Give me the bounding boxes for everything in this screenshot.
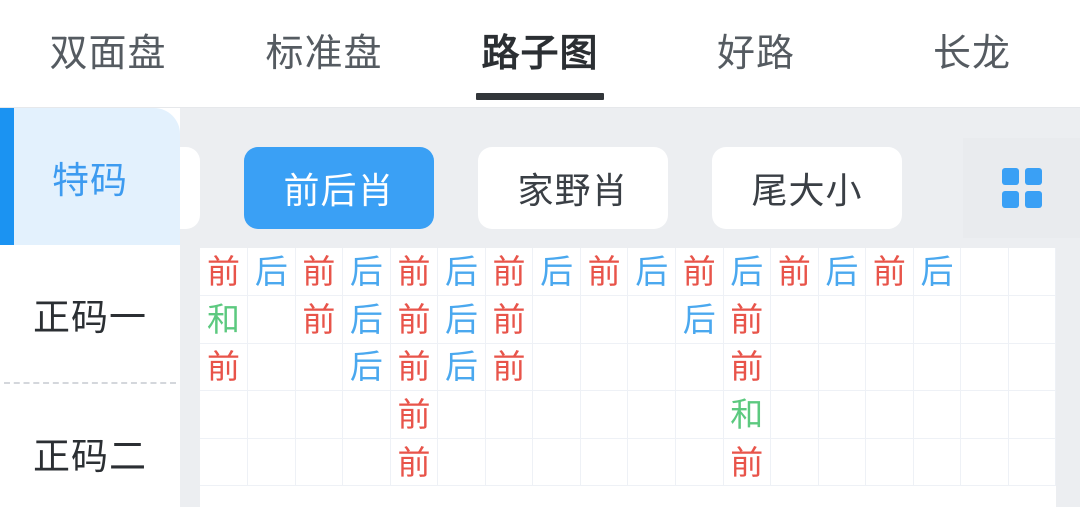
road-cell-前: 前 — [866, 248, 914, 296]
tab-label: 长龙 — [933, 35, 1011, 73]
road-cell-empty — [533, 438, 581, 486]
road-cell-empty — [818, 296, 866, 344]
road-cell-empty — [1008, 438, 1056, 486]
road-cell-empty — [675, 391, 723, 439]
road-cell-empty — [248, 343, 296, 391]
road-cell-empty — [818, 343, 866, 391]
road-cell-前: 前 — [580, 248, 628, 296]
road-cell-empty — [866, 391, 914, 439]
road-cell-前: 前 — [390, 296, 438, 344]
road-cell-后: 后 — [343, 296, 391, 344]
tab-changlong[interactable]: 长龙 — [864, 0, 1080, 108]
table-row: 前后前后前后前后前后前后前后前后 — [200, 248, 1056, 296]
road-cell-empty — [771, 438, 819, 486]
road-cell-empty — [343, 391, 391, 439]
road-cell-和: 和 — [723, 391, 771, 439]
road-cell-empty — [675, 438, 723, 486]
road-cell-empty — [1008, 343, 1056, 391]
road-cell-empty — [533, 296, 581, 344]
road-cell-empty — [818, 438, 866, 486]
road-cell-后: 后 — [913, 248, 961, 296]
road-cell-empty — [1008, 391, 1056, 439]
road-cell-前: 前 — [485, 296, 533, 344]
road-cell-empty — [961, 296, 1009, 344]
category-sidebar: 特码 正码一 正码二 — [0, 108, 180, 507]
road-cell-前: 前 — [390, 343, 438, 391]
road-cell-后: 后 — [438, 343, 486, 391]
road-cell-前: 前 — [485, 343, 533, 391]
road-cell-empty — [913, 391, 961, 439]
road-cell-和: 和 — [200, 296, 248, 344]
sidebar-item-tema[interactable]: 特码 — [0, 108, 180, 245]
top-tab-bar: 双面盘 标准盘 路子图 好路 长龙 — [0, 0, 1080, 108]
tab-biaozhunpan[interactable]: 标准盘 — [216, 0, 432, 108]
road-cell-empty — [961, 343, 1009, 391]
tab-label: 双面盘 — [49, 35, 166, 73]
road-cell-empty — [580, 296, 628, 344]
tab-shuangmianpan[interactable]: 双面盘 — [0, 0, 216, 108]
road-cell-empty — [533, 343, 581, 391]
road-cell-后: 后 — [723, 248, 771, 296]
grid-2x2-icon — [1002, 168, 1042, 208]
road-cell-前: 前 — [295, 296, 343, 344]
road-cell-前: 前 — [771, 248, 819, 296]
filter-chip-row: 前后肖 家野肖 尾大小 — [180, 138, 1080, 238]
road-cell-empty — [343, 438, 391, 486]
road-cell-前: 前 — [295, 248, 343, 296]
sidebar-item-zhengma-yi[interactable]: 正码一 — [0, 245, 180, 382]
road-cell-前: 前 — [723, 438, 771, 486]
road-cell-后: 后 — [343, 343, 391, 391]
filter-chip-jiayexiao[interactable]: 家野肖 — [478, 147, 668, 229]
road-cell-empty — [913, 296, 961, 344]
road-cell-empty — [628, 391, 676, 439]
road-cell-empty — [533, 391, 581, 439]
road-cell-empty — [675, 343, 723, 391]
table-row: 前后前后前前 — [200, 343, 1056, 391]
road-cell-empty — [913, 343, 961, 391]
road-cell-后: 后 — [343, 248, 391, 296]
table-row: 和前后前后前后前 — [200, 296, 1056, 344]
road-cell-empty — [961, 438, 1009, 486]
road-cell-empty — [248, 391, 296, 439]
tab-active-underline — [476, 93, 604, 100]
table-row: 前前 — [200, 438, 1056, 486]
tab-luzitu[interactable]: 路子图 — [432, 0, 648, 108]
road-cell-empty — [200, 391, 248, 439]
road-cell-empty — [866, 438, 914, 486]
road-cell-empty — [1008, 296, 1056, 344]
road-cell-前: 前 — [723, 343, 771, 391]
road-cell-empty — [771, 391, 819, 439]
road-cell-后: 后 — [438, 296, 486, 344]
road-cell-empty — [771, 296, 819, 344]
road-cell-empty — [628, 438, 676, 486]
road-cell-后: 后 — [675, 296, 723, 344]
road-map-grid[interactable]: 前后前后前后前后前后前后前后前后和前后前后前后前前后前后前前前和前前 — [200, 248, 1056, 507]
sidebar-item-label: 特码 — [52, 150, 128, 204]
road-cell-empty — [485, 391, 533, 439]
road-cell-empty — [628, 343, 676, 391]
table-row: 前和 — [200, 391, 1056, 439]
road-cell-前: 前 — [200, 343, 248, 391]
filter-chip-partial[interactable] — [180, 147, 200, 229]
road-cell-empty — [295, 391, 343, 439]
road-cell-empty — [248, 438, 296, 486]
road-cell-empty — [866, 296, 914, 344]
road-cell-后: 后 — [628, 248, 676, 296]
road-cell-前: 前 — [723, 296, 771, 344]
tab-haolu[interactable]: 好路 — [648, 0, 864, 108]
road-cell-empty — [485, 438, 533, 486]
road-cell-前: 前 — [390, 391, 438, 439]
sidebar-item-label: 正码二 — [33, 426, 147, 480]
filter-chip-weidaxiao[interactable]: 尾大小 — [712, 147, 902, 229]
road-cell-empty — [580, 391, 628, 439]
road-cell-前: 前 — [200, 248, 248, 296]
sidebar-item-label: 正码一 — [33, 287, 147, 341]
grid-view-toggle-button[interactable] — [963, 138, 1080, 238]
road-cell-empty — [248, 296, 296, 344]
tab-label: 标准盘 — [265, 35, 382, 73]
road-map-screen: 双面盘 标准盘 路子图 好路 长龙 特码 正码一 — [0, 0, 1080, 507]
road-cell-empty — [438, 391, 486, 439]
road-cell-前: 前 — [390, 248, 438, 296]
tab-label: 路子图 — [481, 35, 598, 73]
road-cell-empty — [200, 438, 248, 486]
road-cell-empty — [295, 343, 343, 391]
road-cell-empty — [295, 438, 343, 486]
road-cell-empty — [913, 438, 961, 486]
road-cell-后: 后 — [818, 248, 866, 296]
road-cell-empty — [438, 438, 486, 486]
sidebar-item-zhengma-er[interactable]: 正码二 — [0, 384, 180, 507]
road-cell-后: 后 — [248, 248, 296, 296]
road-cell-前: 前 — [390, 438, 438, 486]
road-cell-empty — [818, 391, 866, 439]
road-cell-empty — [771, 343, 819, 391]
road-map-table: 前后前后前后前后前后前后前后前后和前后前后前后前前后前后前前前和前前 — [200, 248, 1056, 486]
road-cell-后: 后 — [533, 248, 581, 296]
road-cell-前: 前 — [485, 248, 533, 296]
road-cell-empty — [961, 391, 1009, 439]
road-cell-empty — [580, 343, 628, 391]
road-cell-empty — [866, 343, 914, 391]
road-cell-后: 后 — [438, 248, 486, 296]
road-map-body: 前后前后前后前后前后前后前后前后和前后前后前后前前后前后前前前和前前 — [200, 248, 1056, 486]
road-cell-empty — [961, 248, 1009, 296]
road-cell-empty — [1008, 248, 1056, 296]
filter-chip-qianhouxiao[interactable]: 前后肖 — [244, 147, 434, 229]
content-area: 特码 正码一 正码二 前后肖 家野肖 尾大小 — [0, 108, 1080, 507]
tab-label: 好路 — [717, 35, 795, 73]
road-cell-empty — [580, 438, 628, 486]
road-cell-前: 前 — [675, 248, 723, 296]
road-cell-empty — [628, 296, 676, 344]
